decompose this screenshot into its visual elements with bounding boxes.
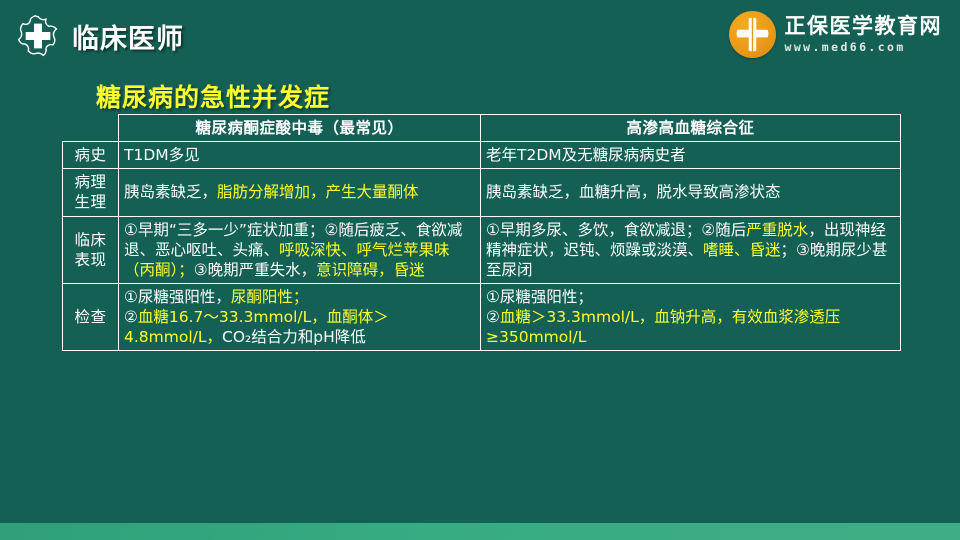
slide-header: 临床医师 正保医学教育网 www.med66.com	[0, 0, 960, 72]
highlight-run: 意识障碍，昏迷	[316, 261, 425, 279]
table-header-hhs: 高渗高血糖综合征	[481, 115, 901, 142]
row-label-2: 临床表现	[63, 216, 119, 283]
table-row: 临床表现①早期“三多一少”症状加重；②随后疲乏、食欲减退、恶心呕吐、头痛、呼吸深…	[63, 216, 901, 283]
text-run: 胰岛素缺乏，	[124, 183, 217, 201]
highlight-run: 严重脱水	[746, 221, 808, 239]
row-0-dka-cell: T1DM多见	[119, 142, 481, 169]
text-run: ③晚期严重失水，	[194, 261, 316, 279]
page-title: 糖尿病的急性并发症	[96, 78, 330, 114]
hospital-cross-icon	[16, 14, 60, 58]
comparison-table: 糖尿病酮症酸中毒（最常见） 高渗高血糖综合征 病史T1DM多见老年T2DM及无糖…	[62, 114, 901, 351]
med66-cross-circle-icon	[729, 11, 776, 58]
text-run: 胰岛素缺乏，血糖升高，脱水导致高渗状态	[486, 183, 781, 201]
highlight-run: 脂肪分解增加，产生大量酮体	[217, 183, 419, 201]
text-run: ①尿糖强阳性，	[124, 288, 231, 306]
text-run: CO₂结合力和pH降低	[222, 328, 366, 346]
table-row: 病理生理胰岛素缺乏，脂肪分解增加，产生大量酮体胰岛素缺乏，血糖升高，脱水导致高渗…	[63, 169, 901, 216]
table-row: 检查①尿糖强阳性，尿酮阳性； ②血糖16.7～33.3mmol/L，血酮体＞4.…	[63, 283, 901, 350]
row-3-hhs-cell: ①尿糖强阳性； ②血糖＞33.3mmol/L，血钠升高，有效血浆渗透压≥350m…	[481, 283, 901, 350]
med66-logo[interactable]: 正保医学教育网 www.med66.com	[729, 11, 943, 58]
table-corner-cell	[63, 115, 119, 142]
brand-block: 临床医师	[16, 14, 184, 58]
row-0-hhs-cell: 老年T2DM及无糖尿病病史者	[481, 142, 901, 169]
footer-accent-bar	[0, 523, 960, 540]
text-run: 老年T2DM及无糖尿病病史者	[486, 146, 686, 164]
highlight-run: 嗜睡、昏迷	[703, 241, 781, 259]
text-run: ①早期多尿、多饮，食欲减退；②随后	[486, 221, 746, 239]
row-2-dka-cell: ①早期“三多一少”症状加重；②随后疲乏、食欲减退、恶心呕吐、头痛、呼吸深快、呼气…	[119, 216, 481, 283]
row-2-hhs-cell: ①早期多尿、多饮，食欲减退；②随后严重脱水，出现神经精神症状，迟钝、烦躁或淡漠、…	[481, 216, 901, 283]
med66-text-block: 正保医学教育网 www.med66.com	[785, 15, 943, 54]
text-run: T1DM多见	[124, 146, 200, 164]
row-label-0: 病史	[63, 142, 119, 169]
row-1-dka-cell: 胰岛素缺乏，脂肪分解增加，产生大量酮体	[119, 169, 481, 216]
row-label-1: 病理生理	[63, 169, 119, 216]
med66-name: 正保医学教育网	[785, 15, 943, 37]
text-run: ②	[124, 308, 138, 326]
table-header-dka: 糖尿病酮症酸中毒（最常见）	[119, 115, 481, 142]
highlight-run: 尿酮阳性；	[231, 288, 309, 306]
slide-root: 临床医师 正保医学教育网 www.med66.com 糖尿病的急性并发症	[0, 0, 960, 540]
table-row: 病史T1DM多见老年T2DM及无糖尿病病史者	[63, 142, 901, 169]
row-label-3: 检查	[63, 283, 119, 350]
row-3-dka-cell: ①尿糖强阳性，尿酮阳性； ②血糖16.7～33.3mmol/L，血酮体＞4.8m…	[119, 283, 481, 350]
brand-title: 临床医师	[72, 17, 184, 56]
row-1-hhs-cell: 胰岛素缺乏，血糖升高，脱水导致高渗状态	[481, 169, 901, 216]
table-header-row: 糖尿病酮症酸中毒（最常见） 高渗高血糖综合征	[63, 115, 901, 142]
highlight-run: 血糖＞33.3mmol/L，血钠升高，有效血浆渗透压≥350mmol/L	[486, 308, 840, 346]
med66-url: www.med66.com	[785, 40, 943, 54]
